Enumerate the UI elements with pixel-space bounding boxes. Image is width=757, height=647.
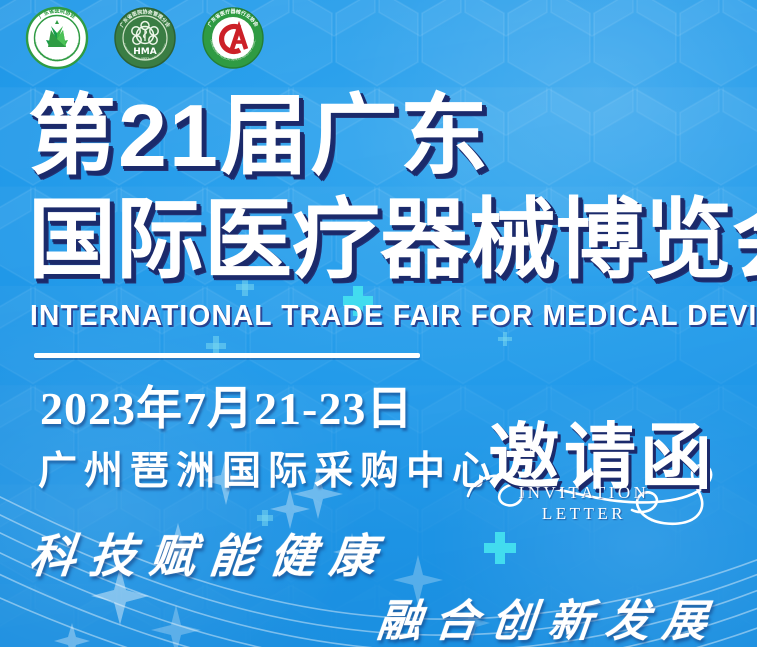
slogan-right: 融合创新发展 (375, 585, 724, 647)
logo-hospital-management-association: 广东省医院协会管理分会 GUANGDONG HOSPITAL MANAGERS … (110, 6, 180, 70)
medical-cross-icon (498, 332, 512, 346)
headline-block: 第21届广东 国际医疗器械博览会 (28, 92, 748, 284)
invitation-block: 邀请函 INVITATION LETTER (470, 398, 750, 528)
event-date: 2023年7月21-23日 (40, 372, 413, 438)
logo-medical-device-industry-association: 广东省医疗器械行业协会 GUANGDONG MEDICAL DEVICES IN… (198, 6, 268, 70)
invitation-poster: 广东省医院协会 GUANGDONG PROVINCIAL HOSPITAL AS… (0, 0, 757, 647)
svg-text:1992: 1992 (141, 57, 149, 61)
invitation-title-en: INVITATION LETTER (504, 482, 664, 525)
logo-guangdong-provincial-hospital-association: 广东省医院协会 GUANGDONG PROVINCIAL HOSPITAL AS… (22, 6, 92, 70)
invitation-en-line-2: LETTER (504, 503, 664, 524)
headline-subtitle-english: INTERNATIONAL TRADE FAIR FOR MEDICAL DEV… (30, 300, 728, 333)
slogan-left: 科技赋能健康 (27, 520, 394, 586)
invitation-en-line-1: INVITATION (504, 482, 664, 503)
event-venue: 广州琶洲国际采购中心 (38, 440, 498, 496)
divider (34, 353, 420, 358)
svg-text:HMA: HMA (133, 47, 156, 57)
headline-line-2: 国际医疗器械博览会 (28, 196, 748, 284)
association-logos: 广东省医院协会 GUANGDONG PROVINCIAL HOSPITAL AS… (22, 6, 268, 70)
headline-line-1: 第21届广东 (28, 92, 748, 180)
